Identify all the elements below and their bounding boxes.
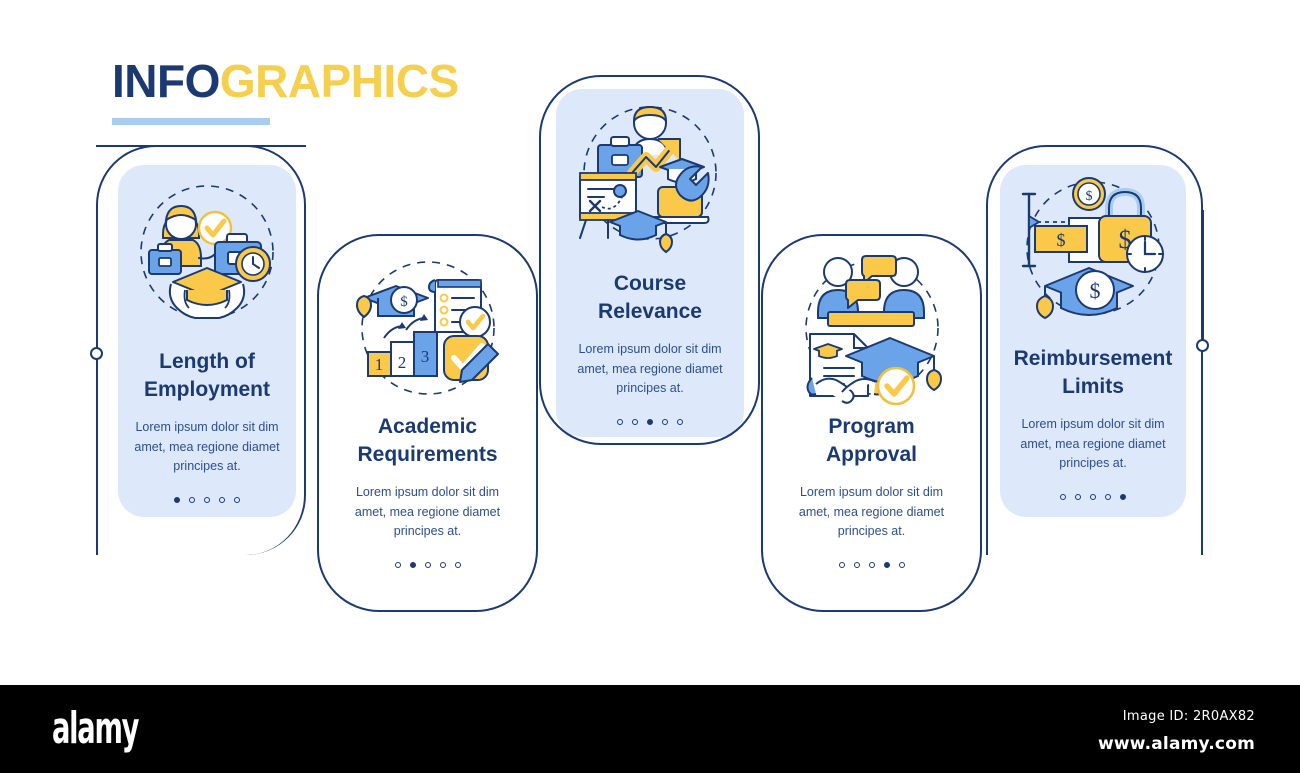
- step-progress-dots-2[interactable]: [395, 562, 461, 568]
- left-connector-line: [96, 215, 98, 348]
- step-description-2: Lorem ipsum dolor sit dim amet, mea regi…: [355, 483, 500, 542]
- step-card-content-4: Program Approval Lorem ipsum dolor sit d…: [781, 413, 962, 568]
- progress-dot-4[interactable]: [884, 562, 890, 568]
- employment-tenure-icon: [127, 172, 287, 332]
- right-connector-endpoint-icon: [1196, 339, 1209, 352]
- progress-dot-1[interactable]: [395, 562, 401, 568]
- step-progress-dots-5[interactable]: [1060, 494, 1126, 500]
- page-title-block: INFOGRAPHICS: [112, 58, 459, 125]
- progress-dot-5[interactable]: [899, 562, 905, 568]
- svg-text:2: 2: [398, 353, 407, 372]
- course-relevance-icon: [570, 95, 730, 255]
- progress-dot-3[interactable]: [647, 419, 653, 425]
- progress-dot-4[interactable]: [219, 497, 225, 503]
- svg-text:3: 3: [421, 347, 430, 366]
- progress-dot-5[interactable]: [1120, 494, 1126, 500]
- alamy-logo: alamy: [52, 703, 138, 754]
- step-card-content-3: Course Relevance Lorem ipsum dolor sit d…: [556, 270, 744, 425]
- progress-dot-2[interactable]: [410, 562, 416, 568]
- progress-dot-4[interactable]: [440, 562, 446, 568]
- step-description-3: Lorem ipsum dolor sit dim amet, mea regi…: [577, 340, 722, 399]
- footer-meta: Image ID: 2R0AX82 www.alamy.com: [1098, 709, 1255, 754]
- program-approval-icon: [792, 250, 952, 410]
- step-progress-dots-3[interactable]: [617, 419, 683, 425]
- svg-text:$: $: [400, 294, 408, 310]
- progress-dot-2[interactable]: [854, 562, 860, 568]
- progress-dot-1[interactable]: [839, 562, 845, 568]
- step-description-5: Lorem ipsum dolor sit dim amet, mea regi…: [1020, 415, 1165, 474]
- step-progress-dots-1[interactable]: [174, 497, 240, 503]
- reimbursement-limits-icon: $ $ $ $: [1013, 172, 1173, 332]
- page-title: INFOGRAPHICS: [112, 58, 459, 104]
- step-title-4: Program Approval: [826, 413, 917, 468]
- progress-dot-1[interactable]: [617, 419, 623, 425]
- right-connector-line: [1202, 210, 1204, 340]
- progress-dot-1[interactable]: [174, 497, 180, 503]
- svg-text:1: 1: [375, 355, 384, 374]
- progress-dot-3[interactable]: [1090, 494, 1096, 500]
- image-id-text: Image ID: 2R0AX82: [1098, 709, 1255, 724]
- progress-dot-3[interactable]: [869, 562, 875, 568]
- step-card-content-2: Academic Requirements Lorem ipsum dolor …: [337, 413, 518, 568]
- progress-dot-1[interactable]: [1060, 494, 1066, 500]
- step-card-content-5: Reimbursement Limits Lorem ipsum dolor s…: [1000, 345, 1186, 500]
- progress-dot-3[interactable]: [204, 497, 210, 503]
- svg-text:$: $: [1086, 189, 1093, 204]
- progress-dot-4[interactable]: [662, 419, 668, 425]
- svg-text:$: $: [1090, 278, 1101, 303]
- page-title-part-one: INFO: [112, 55, 220, 107]
- step-title-2: Academic Requirements: [357, 413, 497, 468]
- step-progress-dots-4[interactable]: [839, 562, 905, 568]
- title-underline-rule: [112, 118, 270, 125]
- step-title-5: Reimbursement Limits: [1014, 345, 1173, 400]
- progress-dot-5[interactable]: [455, 562, 461, 568]
- step-card-content-1: Length of Employment Lorem ipsum dolor s…: [118, 348, 296, 503]
- watermark-footer-bar: alamy Image ID: 2R0AX82 www.alamy.com: [0, 685, 1300, 773]
- svg-text:$: $: [1057, 230, 1066, 250]
- step-title-3: Course Relevance: [598, 270, 702, 325]
- progress-dot-4[interactable]: [1105, 494, 1111, 500]
- progress-dot-2[interactable]: [632, 419, 638, 425]
- step-title-1: Length of Employment: [144, 348, 270, 403]
- page-title-part-two: GRAPHICS: [220, 55, 459, 107]
- step-description-1: Lorem ipsum dolor sit dim amet, mea regi…: [134, 418, 279, 477]
- left-connector-endpoint-icon: [90, 347, 103, 360]
- academic-requirements-icon: $ 1 2 3: [348, 250, 508, 410]
- progress-dot-5[interactable]: [677, 419, 683, 425]
- progress-dot-2[interactable]: [1075, 494, 1081, 500]
- alamy-url-text: www.alamy.com: [1098, 734, 1255, 754]
- progress-dot-3[interactable]: [425, 562, 431, 568]
- step-description-4: Lorem ipsum dolor sit dim amet, mea regi…: [799, 483, 944, 542]
- progress-dot-2[interactable]: [189, 497, 195, 503]
- progress-dot-5[interactable]: [234, 497, 240, 503]
- infographic-canvas: INFOGRAPHICS: [0, 0, 1300, 773]
